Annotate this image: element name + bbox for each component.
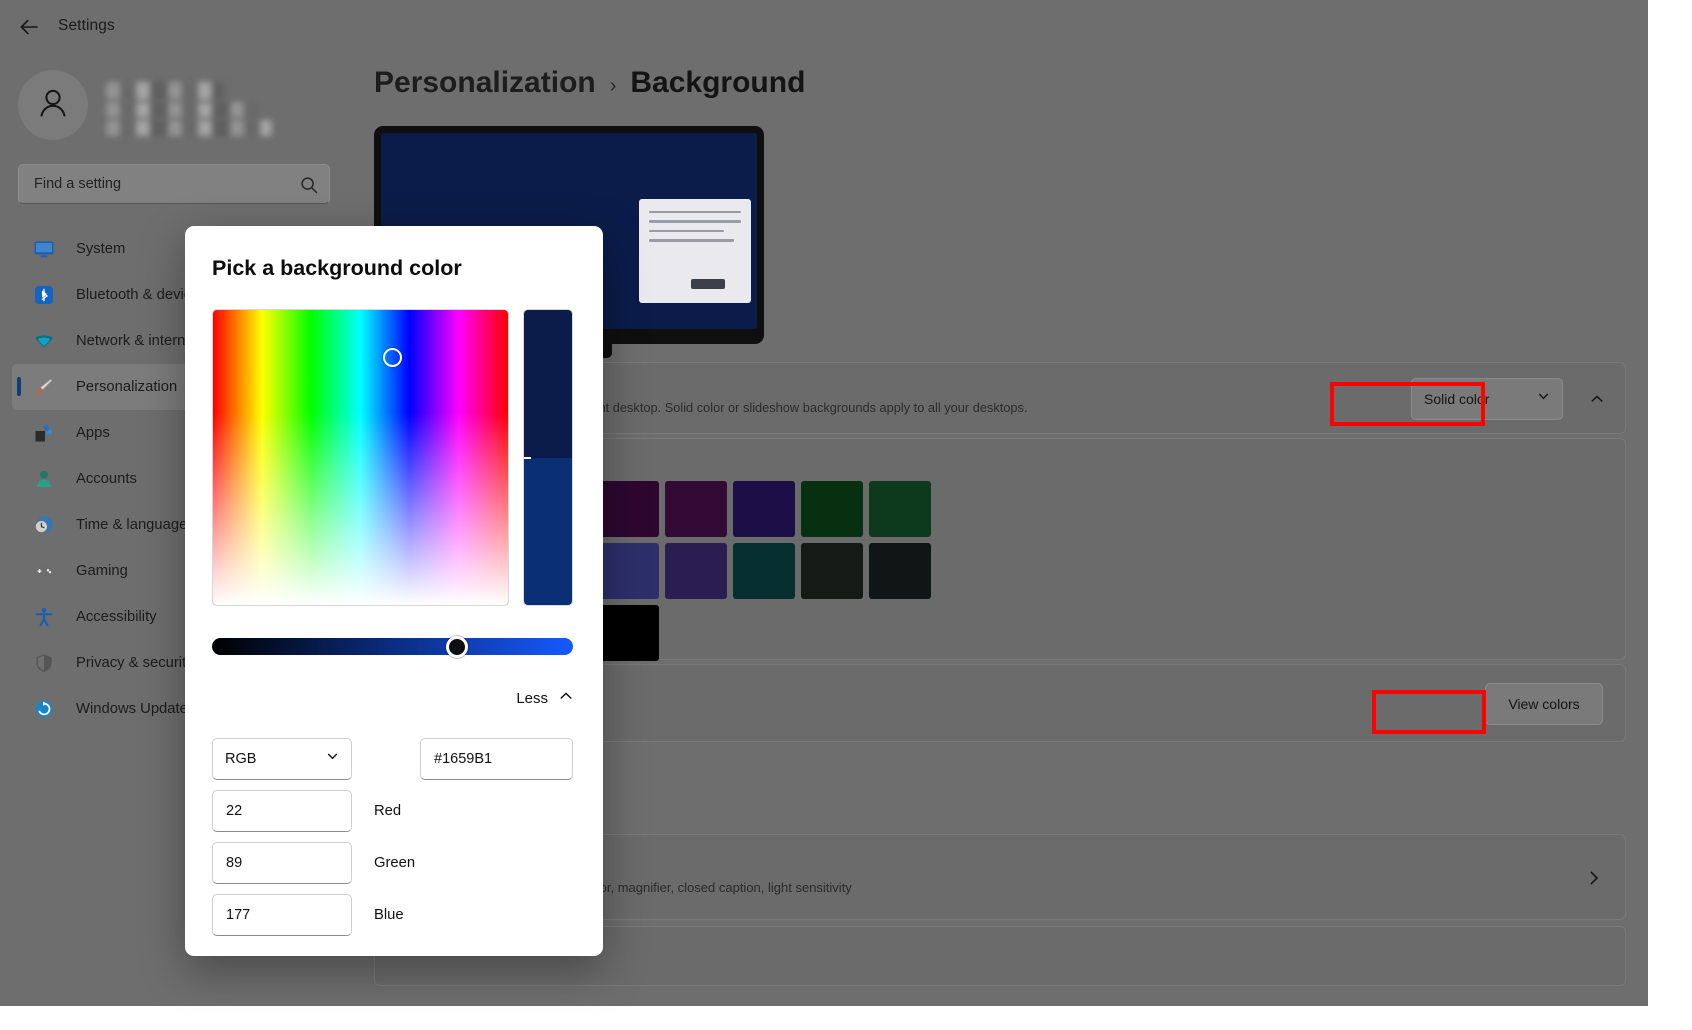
blue-label: Blue — [374, 907, 404, 923]
account-email-redacted — [106, 102, 258, 118]
breadcrumb: Personalization › Background — [374, 66, 805, 100]
hex-input[interactable]: #1659B1 — [420, 738, 573, 780]
app-title: Settings — [58, 17, 115, 35]
sidebar-item-label: Accounts — [76, 471, 137, 487]
sidebar-item-label: Network & internet — [76, 333, 198, 349]
color-swatch[interactable] — [665, 543, 727, 599]
back-button[interactable] — [12, 10, 46, 44]
background-type-dropdown[interactable]: Solid color — [1411, 378, 1563, 420]
color-swatch[interactable] — [665, 481, 727, 537]
wifi-icon — [32, 329, 56, 353]
color-swatch[interactable] — [733, 543, 795, 599]
saturation-value-field[interactable] — [212, 309, 509, 606]
white-gradient-layer — [213, 310, 508, 605]
green-label: Green — [374, 855, 415, 871]
shield-icon — [32, 651, 56, 675]
sidebar-item-label: Windows Update — [76, 701, 188, 717]
accounts-icon — [32, 467, 56, 491]
clock-globe-icon — [32, 513, 56, 537]
sidebar-item-label: Accessibility — [76, 609, 157, 625]
hex-value: #1659B1 — [434, 751, 492, 767]
sidebar-item-label: Time & language — [76, 517, 187, 533]
chevron-right-icon[interactable] — [1585, 869, 1603, 887]
less-label: Less — [516, 690, 548, 707]
color-swatch[interactable] — [597, 481, 659, 537]
gamepad-icon — [32, 559, 56, 583]
preview-divider-notch — [524, 457, 531, 459]
sidebar-item-label: Gaming — [76, 563, 128, 579]
person-avatar-icon — [33, 83, 73, 128]
chevron-down-icon — [326, 750, 339, 768]
brightness-slider[interactable] — [212, 638, 573, 655]
search-icon — [299, 175, 319, 195]
breadcrumb-parent[interactable]: Personalization — [374, 66, 596, 100]
chevron-up-icon — [558, 688, 574, 709]
sidebar-item-label: System — [76, 241, 125, 257]
preview-new-color — [524, 458, 572, 606]
accessibility-icon — [32, 605, 56, 629]
account-detail-redacted — [106, 120, 272, 136]
preview-window-chip — [691, 279, 725, 289]
sidebar-item-label: Privacy & security — [76, 655, 194, 671]
page-title: Background — [630, 66, 805, 100]
update-icon — [32, 697, 56, 721]
sidebar-item-label: Personalization — [76, 379, 177, 395]
color-picker-dialog: Pick a background color Less RGB — [185, 226, 603, 956]
brightness-slider-thumb[interactable] — [446, 636, 468, 658]
red-label: Red — [374, 803, 401, 819]
green-channel-row: 89 Green — [212, 842, 415, 884]
search-input[interactable]: Find a setting — [18, 164, 330, 204]
less-toggle-button[interactable]: Less — [516, 688, 574, 709]
monitor-icon — [32, 237, 56, 261]
color-swatch[interactable] — [869, 543, 931, 599]
account-name-redacted — [106, 82, 224, 100]
preview-old-color — [524, 310, 572, 458]
red-input[interactable]: 22 — [212, 790, 352, 832]
search-placeholder: Find a setting — [34, 176, 121, 192]
dialog-title: Pick a background color — [212, 256, 462, 281]
view-colors-button[interactable]: View colors — [1485, 683, 1603, 725]
screen: Settings Find a setting — [0, 0, 1692, 1030]
avatar — [18, 70, 88, 140]
bluetooth-icon — [32, 283, 56, 307]
chevron-up-icon[interactable] — [1589, 391, 1605, 407]
sidebar-item-label: Apps — [76, 425, 110, 441]
back-arrow-icon — [18, 16, 40, 38]
breadcrumb-separator-icon: › — [610, 75, 617, 98]
green-input[interactable]: 89 — [212, 842, 352, 884]
background-type-value: Solid color — [1424, 391, 1537, 407]
title-bar: Settings — [0, 0, 1648, 54]
color-swatch[interactable] — [597, 543, 659, 599]
color-format-value: RGB — [225, 751, 326, 767]
blue-channel-row: 177 Blue — [212, 894, 404, 936]
preview-window — [639, 199, 751, 303]
color-swatch[interactable] — [801, 543, 863, 599]
paintbrush-icon — [32, 375, 56, 399]
chevron-down-icon — [1537, 390, 1550, 408]
red-channel-row: 22 Red — [212, 790, 401, 832]
color-swatch[interactable] — [733, 481, 795, 537]
circle-handle-icon[interactable] — [383, 348, 402, 367]
blue-input[interactable]: 177 — [212, 894, 352, 936]
color-format-select[interactable]: RGB — [212, 738, 352, 780]
color-preview-bar — [523, 309, 573, 606]
color-swatch[interactable] — [801, 481, 863, 537]
account-card[interactable] — [18, 62, 338, 144]
apps-icon — [32, 421, 56, 445]
color-swatch[interactable] — [597, 605, 659, 661]
color-swatch[interactable] — [869, 481, 931, 537]
